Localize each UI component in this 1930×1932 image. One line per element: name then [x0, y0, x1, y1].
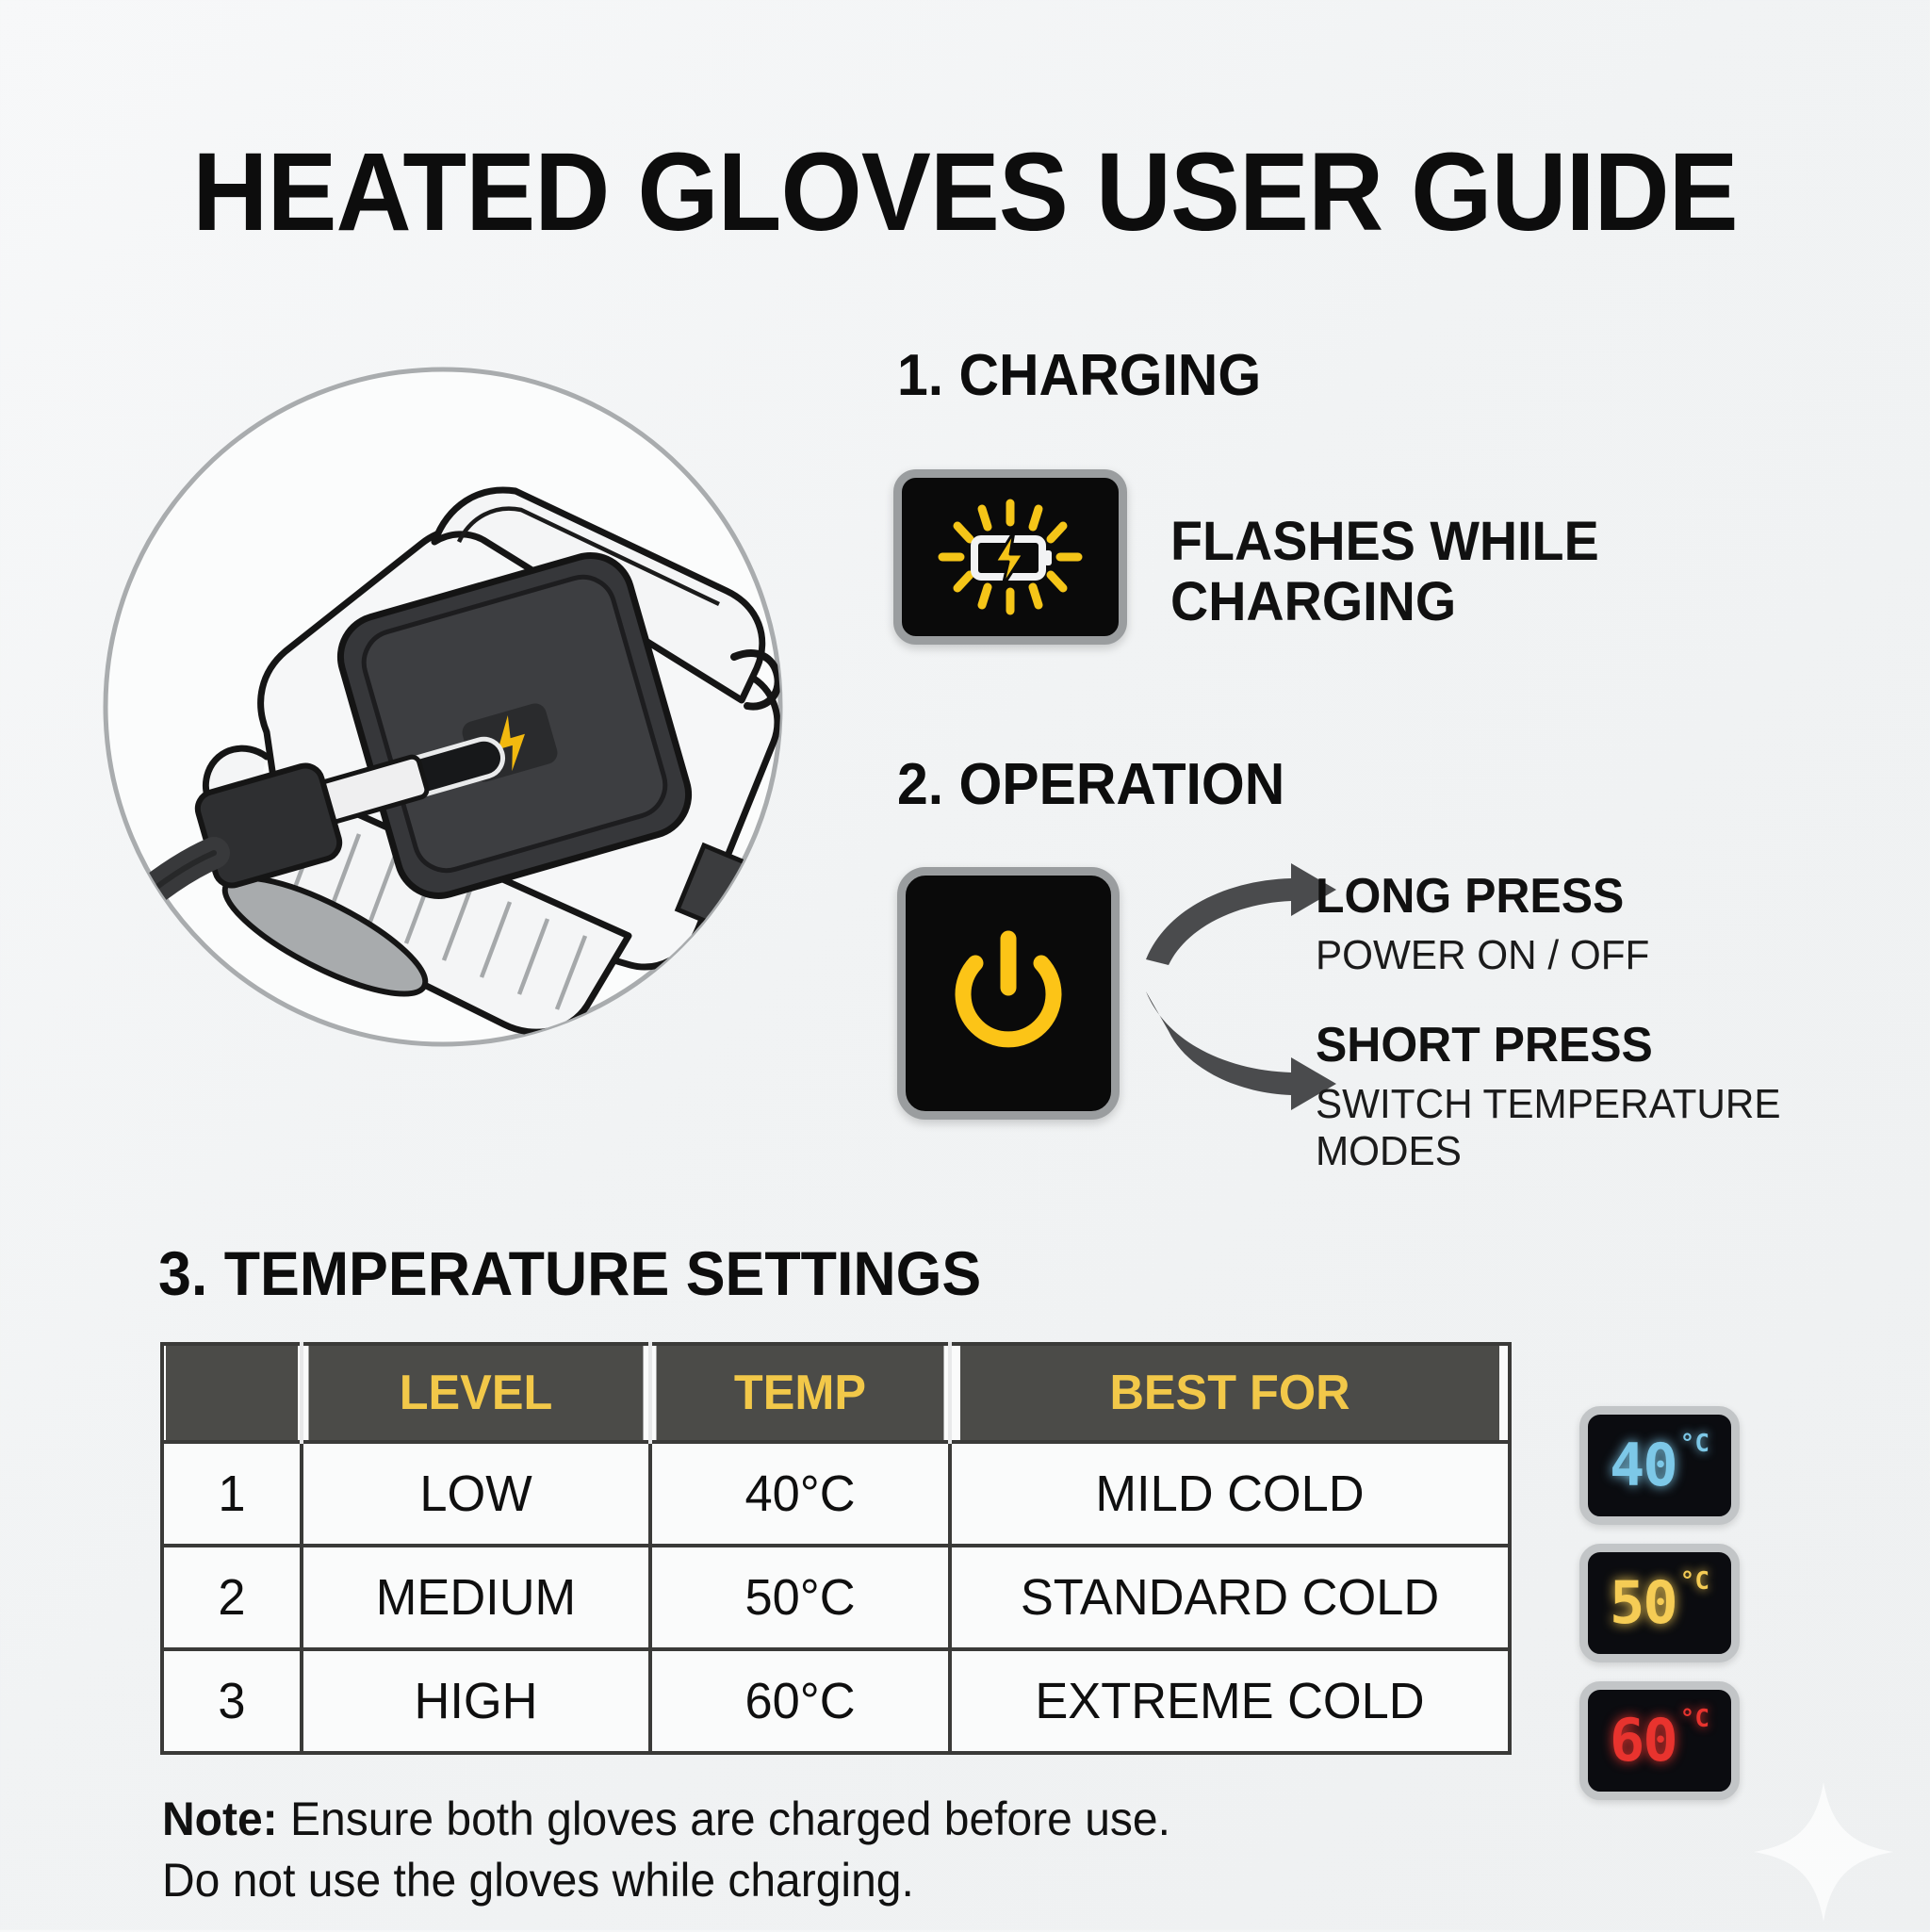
charging-label: FLASHES WHILE CHARGING [1170, 512, 1749, 632]
cell-best-for: STANDARD COLD [958, 1546, 1501, 1649]
col-header-level: LEVEL [307, 1344, 646, 1442]
table-row: 3 HIGH 60°C EXTREME COLD [162, 1649, 1510, 1753]
cell-best-for: MILD COLD [958, 1442, 1501, 1546]
cell-level: HIGH [307, 1649, 646, 1753]
long-press-subtitle: POWER ON / OFF [1316, 932, 1823, 979]
cell-index: 2 [164, 1546, 300, 1649]
flashing-battery-charging-icon [925, 498, 1095, 616]
note-line-2-wrap: Do not use the gloves while charging. [162, 1850, 1447, 1911]
four-point-sparkle-icon [1748, 1776, 1899, 1927]
col-header-best-for: BEST FOR [958, 1344, 1501, 1442]
led-unit: °C [1680, 1432, 1709, 1456]
led-value: 60 [1610, 1711, 1676, 1770]
curved-arrow-icon-short-press [1146, 991, 1336, 1110]
section-1-heading: 1. CHARGING [897, 347, 1261, 405]
power-button-box [897, 867, 1120, 1120]
long-press-title: LONG PRESS [1316, 871, 1904, 923]
infographic-page: HEATED GLOVES USER GUIDE [0, 0, 1930, 1930]
cell-level: MEDIUM [307, 1546, 646, 1649]
led-value: 50 [1610, 1574, 1676, 1632]
section-3-heading: 3. TEMPERATURE SETTINGS [158, 1242, 981, 1304]
charging-indicator-box [893, 469, 1127, 645]
led-unit: °C [1680, 1707, 1709, 1731]
section-2-heading: 2. OPERATION [897, 756, 1284, 814]
note-line-2-text: Do not use the gloves while charging. [162, 1854, 914, 1907]
note-prefix: Note: [162, 1793, 278, 1845]
cell-best-for: EXTREME COLD [958, 1649, 1501, 1753]
glove-charging-illustration [90, 306, 806, 1136]
cell-temp: 40°C [655, 1442, 945, 1546]
led-display-40c: 40 °C [1579, 1406, 1740, 1525]
temperature-settings-table: LEVEL TEMP BEST FOR 1 LOW 40°C MILD COLD… [160, 1342, 1512, 1755]
cell-index: 1 [164, 1442, 300, 1546]
col-header-index [164, 1344, 300, 1442]
led-unit: °C [1680, 1569, 1709, 1594]
cell-temp: 50°C [655, 1546, 945, 1649]
battery-terminal [1044, 550, 1052, 565]
note-line-1-text: Ensure both gloves are charged before us… [278, 1793, 1170, 1845]
col-header-temp: TEMP [655, 1344, 945, 1442]
short-press-subtitle: SWITCH TEMPERATURE MODES [1316, 1081, 1823, 1175]
power-button-icon [938, 914, 1079, 1072]
note-line-1: Note: Ensure both gloves are charged bef… [162, 1789, 1447, 1850]
led-value: 40 [1610, 1436, 1676, 1495]
cell-index: 3 [164, 1649, 300, 1753]
page-title: HEATED GLOVES USER GUIDE [57, 137, 1872, 248]
operation-item-long-press: LONG PRESS POWER ON / OFF [1316, 871, 1928, 979]
operation-item-short-press: SHORT PRESS SWITCH TEMPERATURE MODES [1316, 1020, 1928, 1175]
table-row: 2 MEDIUM 50°C STANDARD COLD [162, 1546, 1510, 1649]
led-display-60c: 60 °C [1579, 1681, 1740, 1800]
table-row: 1 LOW 40°C MILD COLD [162, 1442, 1510, 1546]
note-text: Note: Ensure both gloves are charged bef… [162, 1789, 1447, 1911]
short-press-title: SHORT PRESS [1316, 1020, 1904, 1072]
cell-level: LOW [307, 1442, 646, 1546]
led-display-50c: 50 °C [1579, 1544, 1740, 1662]
cell-temp: 60°C [655, 1649, 945, 1753]
curved-arrow-icon-long-press [1146, 863, 1336, 965]
table-header-row: LEVEL TEMP BEST FOR [162, 1344, 1510, 1442]
